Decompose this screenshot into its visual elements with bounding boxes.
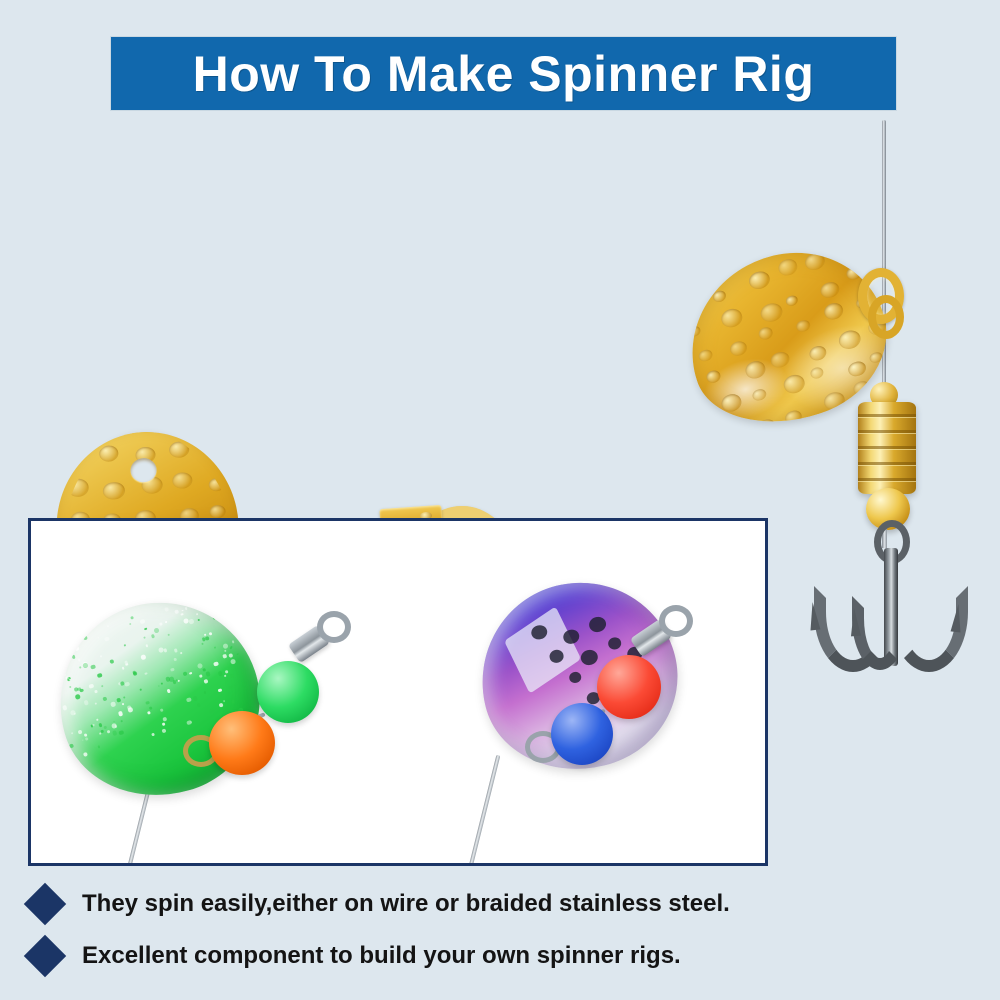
blade-glitter-fleck	[69, 743, 74, 748]
blade-glitter-fleck	[144, 627, 147, 630]
blade-dimple	[869, 351, 884, 364]
blade-dimple	[822, 389, 847, 411]
blade-glitter-fleck	[88, 683, 94, 689]
blade-glitter-fleck	[120, 681, 125, 686]
blade-glitter-fleck	[236, 653, 238, 655]
blade-glitter-fleck	[130, 616, 135, 621]
blade-glitter-fleck	[129, 622, 132, 625]
blade-spot	[588, 615, 608, 634]
page-title-banner: How To Make Spinner Rig	[110, 36, 897, 111]
blade-glitter-fleck	[121, 667, 125, 671]
blade-glitter-fleck	[98, 723, 102, 727]
blade-glitter-fleck	[201, 605, 203, 607]
blade-glitter-fleck	[151, 634, 155, 638]
blade-glitter-fleck	[189, 618, 195, 624]
body-rib	[858, 478, 916, 481]
blade-glitter-fleck	[109, 659, 114, 664]
blade-dimple	[784, 294, 799, 307]
blade-glitter-fleck	[224, 649, 227, 652]
blade-glitter-fleck	[68, 639, 71, 642]
blade-dimple	[758, 301, 784, 325]
blade-dimple	[795, 319, 812, 334]
blade-dimple	[67, 478, 89, 497]
blade-glitter-fleck	[75, 694, 81, 700]
blade-glitter-fleck	[122, 703, 124, 705]
blade-glitter-fleck	[220, 615, 225, 620]
blade-glitter-fleck	[56, 670, 61, 675]
spinner-blade-green	[36, 579, 281, 819]
blade-glitter-fleck	[49, 645, 53, 649]
blade-glitter-fleck	[165, 620, 168, 623]
body-rib	[858, 414, 916, 417]
blade-glitter-fleck	[160, 708, 164, 712]
blade-dimple	[697, 348, 714, 363]
feature-bullet-list: They spin easily,either on wire or braid…	[30, 880, 970, 984]
blade-glitter-fleck	[186, 697, 191, 702]
list-item: They spin easily,either on wire or braid…	[30, 880, 970, 928]
blade-dimple	[746, 269, 771, 292]
swivel-purple-assembly	[633, 605, 695, 667]
blade-glitter-fleck	[103, 725, 107, 729]
blade-glitter-fleck	[211, 595, 213, 597]
blade-dimple	[681, 294, 695, 307]
blade-glitter-fleck	[196, 613, 199, 616]
blade-glitter-fleck	[154, 627, 160, 633]
blade-glitter-fleck	[145, 701, 150, 706]
blade-glitter-fleck	[149, 706, 153, 710]
blade-glitter-fleck	[96, 719, 98, 721]
blade-dimple	[809, 365, 825, 380]
blade-glitter-fleck	[166, 688, 171, 693]
blade-glitter-fleck	[161, 682, 164, 685]
blade-dimple	[168, 441, 189, 459]
blade-dimple	[822, 300, 845, 321]
blade-glitter-fleck	[203, 691, 206, 694]
treble-hook	[800, 520, 985, 700]
blade-glitter-fleck	[192, 696, 198, 702]
blade-dimple	[803, 251, 827, 272]
blade-dimple	[776, 257, 800, 279]
blade-glitter-fleck	[117, 698, 121, 702]
blade-glitter-fleck	[133, 672, 138, 677]
blade-glitter-fleck	[139, 688, 141, 690]
blade-dimple	[210, 504, 227, 518]
blade-glitter-fleck	[123, 696, 126, 699]
blade-glitter-fleck	[199, 675, 202, 678]
blade-dimple	[729, 339, 750, 358]
blade-dimple	[99, 445, 119, 462]
blade-glitter-fleck	[145, 673, 148, 676]
blade-glitter-fleck	[106, 625, 109, 628]
bullet-text: They spin easily,either on wire or braid…	[82, 892, 730, 916]
blade-glitter-fleck	[106, 730, 110, 734]
blade-glitter-fleck	[80, 667, 82, 669]
blade-glitter-fleck	[162, 716, 167, 721]
diamond-bullet-icon	[24, 935, 66, 977]
blade-glitter-fleck	[185, 607, 188, 610]
blade-dimple	[103, 481, 125, 500]
blade-glitter-fleck	[213, 661, 219, 667]
blade-spot	[579, 648, 599, 667]
blade-glitter-fleck	[97, 745, 100, 748]
blade-dimple	[768, 349, 791, 370]
blade-dimple	[743, 359, 768, 382]
blade-glitter-fleck	[204, 679, 208, 683]
blade-glitter-fleck	[125, 663, 128, 666]
blade-glitter-fleck	[232, 640, 235, 643]
blade-glitter-fleck	[69, 686, 72, 689]
blade-glitter-fleck	[90, 664, 96, 670]
blade-glitter-fleck	[77, 730, 82, 735]
blade-glitter-fleck	[85, 737, 90, 742]
blade-glitter-fleck	[62, 705, 68, 711]
blade-glitter-fleck	[180, 613, 183, 616]
blade-glitter-fleck	[202, 598, 204, 600]
blade-glitter-fleck	[173, 657, 177, 661]
purple-spinner-wire	[462, 755, 501, 866]
blade-dimple	[757, 325, 774, 341]
spinner-assembly-purple	[383, 563, 723, 853]
blade-glitter-fleck	[218, 671, 224, 677]
blade-glitter-fleck	[139, 619, 145, 625]
blade-dimple	[781, 373, 807, 396]
list-item: Excellent component to build your own sp…	[30, 932, 970, 980]
blade-dimple	[784, 409, 804, 427]
blade-glitter-fleck	[228, 686, 232, 690]
blade-glitter-fleck	[97, 673, 102, 678]
blade-glitter-fleck	[223, 654, 227, 658]
blade-glitter-fleck	[95, 690, 98, 693]
blade-glitter-fleck	[228, 653, 233, 658]
blade-glitter-fleck	[145, 644, 148, 647]
blade-glitter-fleck	[151, 732, 155, 736]
hook-point-middle	[849, 608, 861, 637]
blade-dimple	[818, 280, 841, 301]
blade-glitter-fleck	[49, 670, 53, 674]
blade-glitter-fleck	[182, 671, 187, 676]
blade-glitter-fleck	[118, 730, 124, 736]
blade-dimple	[171, 471, 192, 489]
blade-glitter-fleck	[226, 618, 230, 622]
blade-glitter-fleck	[230, 659, 236, 665]
blade-glitter-fleck	[224, 675, 226, 677]
blade-spot	[568, 671, 582, 684]
body-rib	[858, 446, 916, 449]
blade-glitter-fleck	[167, 633, 170, 636]
bead-blue	[551, 703, 613, 765]
blade-glitter-fleck	[222, 700, 225, 703]
blade-glitter-fleck	[70, 732, 73, 735]
blade-glitter-fleck	[112, 730, 117, 735]
blade-glitter-fleck	[203, 668, 206, 671]
blade-glitter-fleck	[112, 723, 118, 729]
blade-glitter-fleck	[104, 636, 110, 642]
blade-dimple	[203, 441, 223, 458]
blade-glitter-fleck	[143, 636, 145, 638]
blade-glitter-fleck	[97, 637, 99, 639]
blade-glitter-fleck	[94, 702, 97, 705]
blade-glitter-fleck	[147, 711, 150, 714]
blade-glitter-fleck	[99, 732, 101, 734]
blade-dimple	[66, 448, 79, 459]
spinner-assembly-green	[49, 563, 389, 853]
blade-glitter-fleck	[230, 674, 234, 678]
blade-glitter-fleck	[100, 656, 102, 658]
blade-glitter-fleck	[183, 618, 189, 624]
blade-glitter-fleck	[83, 663, 89, 669]
blade-glitter-fleck	[181, 610, 183, 612]
blade-glitter-fleck	[83, 700, 89, 706]
blade-glitter-fleck	[165, 607, 170, 612]
bead-orange	[209, 711, 275, 775]
blade-glitter-fleck	[124, 644, 126, 646]
blade-glitter-fleck	[215, 602, 218, 605]
blade-glitter-fleck	[118, 711, 124, 717]
blade-dimple	[705, 369, 723, 385]
blade-glitter-fleck	[162, 722, 166, 726]
blade-glitter-fleck	[124, 681, 129, 686]
blade-glitter-fleck	[121, 720, 123, 722]
product-photo-panel	[28, 518, 768, 866]
blade-glitter-fleck	[159, 622, 163, 626]
blade-glitter-fleck	[158, 685, 160, 687]
blade-glitter-fleck	[78, 658, 81, 661]
blade-dimple	[719, 307, 744, 330]
blade-glitter-fleck	[217, 688, 222, 693]
blade-glitter-fleck	[74, 645, 79, 650]
blade-glitter-fleck	[180, 652, 182, 654]
blade-glitter-fleck	[209, 709, 214, 714]
blade-dimple	[719, 392, 743, 414]
blade-glitter-fleck	[197, 619, 199, 621]
blade-glitter-fleck	[163, 648, 168, 653]
blade-dimple	[833, 239, 859, 262]
blade-spot	[607, 636, 622, 650]
blade-glitter-fleck	[225, 670, 228, 673]
blade-glitter-fleck	[178, 679, 181, 682]
swivel-loop	[317, 611, 351, 643]
blade-glitter-fleck	[219, 703, 224, 708]
blade-glitter-fleck	[198, 599, 202, 603]
blade-glitter-fleck	[222, 643, 228, 649]
blade-dimple	[847, 359, 868, 378]
blade-dimple	[751, 387, 768, 402]
blade-glitter-fleck	[161, 728, 166, 733]
blade-glitter-fleck	[111, 702, 116, 707]
blade-glitter-fleck	[201, 642, 204, 645]
blade-glitter-fleck	[197, 703, 201, 707]
blade-glitter-fleck	[103, 697, 108, 702]
blade-glitter-fleck	[189, 672, 192, 675]
blade-glitter-fleck	[208, 632, 212, 636]
swivel-loop	[659, 605, 693, 637]
blade-glitter-fleck	[174, 609, 179, 614]
rig-ribbed-body	[858, 402, 916, 494]
blade-glitter-fleck	[212, 615, 217, 620]
blade-glitter-fleck	[82, 739, 84, 741]
blade-glitter-fleck	[71, 655, 76, 660]
blade-glitter-fleck	[214, 646, 216, 648]
blade-glitter-fleck	[170, 667, 175, 672]
blade-glitter-fleck	[83, 636, 88, 641]
blade-dimple	[686, 325, 701, 339]
swivel-green-assembly	[291, 611, 353, 673]
blade-dimple	[757, 417, 778, 436]
diamond-bullet-icon	[24, 883, 66, 925]
blade-glitter-fleck	[174, 648, 178, 652]
blade-dimple	[807, 344, 827, 362]
rig-clevis-loop-inner	[868, 295, 904, 339]
blade-glitter-fleck	[205, 671, 211, 677]
blade-dimple	[845, 265, 864, 282]
blade-glitter-fleck	[209, 603, 215, 609]
page-title: How To Make Spinner Rig	[193, 49, 815, 99]
blade-glitter-fleck	[141, 654, 147, 660]
blade-glitter-fleck	[42, 646, 46, 650]
blade-glitter-fleck	[233, 685, 236, 688]
blade-glitter-fleck	[83, 752, 88, 757]
body-rib	[858, 430, 916, 433]
blade-dimple	[711, 289, 727, 303]
blade-dimple	[720, 420, 743, 441]
blade-dimple	[836, 328, 862, 352]
blade-glitter-fleck	[231, 700, 235, 704]
blade-glitter-fleck	[101, 685, 103, 687]
bullet-text: Excellent component to build your own sp…	[82, 944, 681, 968]
body-rib	[858, 462, 916, 465]
